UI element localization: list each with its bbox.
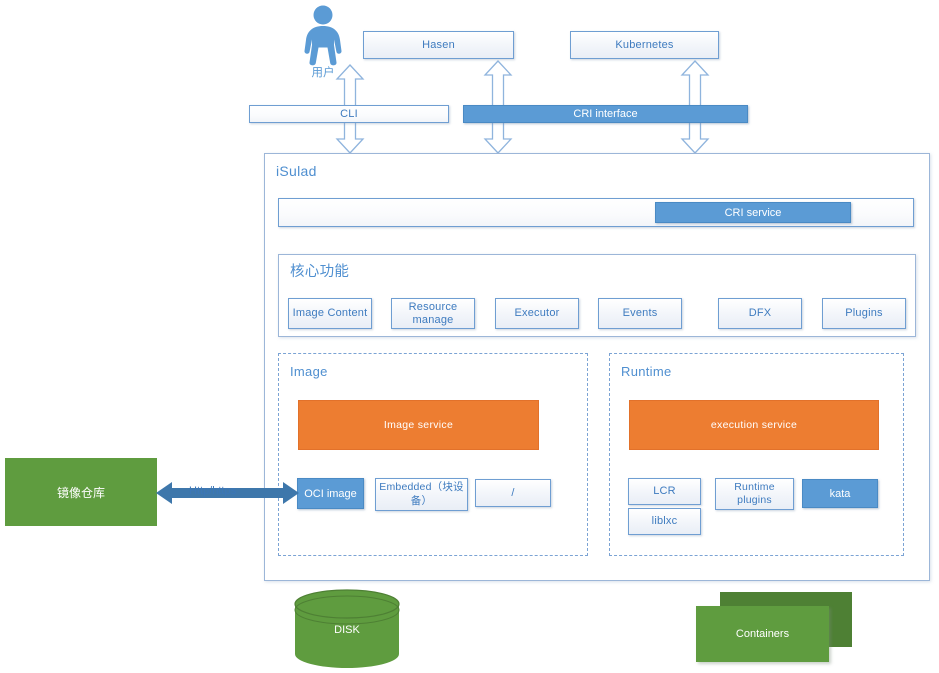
interface-bar-cli[interactable]: CLI: [249, 105, 449, 123]
isulad-title: iSulad: [276, 163, 317, 179]
client-box-hasen-label: Hasen: [422, 39, 455, 52]
storage-containers[interactable]: Containers: [696, 592, 856, 662]
storage-containers-front-card: Containers: [696, 606, 829, 662]
cri-service-box[interactable]: CRI service: [655, 202, 851, 223]
core-functions-panel: [278, 254, 916, 337]
core-module-resource-manage[interactable]: Resource manage: [391, 298, 475, 329]
runtime-backend-liblxc[interactable]: liblxc: [628, 508, 701, 535]
interface-bar-cri[interactable]: CRI interface: [463, 105, 748, 123]
user-person-icon: [296, 4, 350, 66]
cri-service-label: CRI service: [725, 207, 782, 219]
core-module-plugins-label: Plugins: [845, 307, 882, 320]
image-backend-slash-label: /: [511, 487, 514, 500]
image-section-title: Image: [290, 364, 328, 379]
execution-service-label: execution service: [711, 419, 797, 431]
runtime-backend-lcr-label: LCR: [653, 485, 676, 498]
client-box-hasen[interactable]: Hasen: [363, 31, 514, 59]
image-backend-oci-image-label: OCI image: [304, 488, 357, 500]
runtime-backend-liblxc-label: liblxc: [652, 515, 678, 528]
runtime-backend-lcr[interactable]: LCR: [628, 478, 701, 505]
client-box-kubernetes-label: Kubernetes: [615, 39, 673, 52]
core-module-plugins[interactable]: Plugins: [822, 298, 906, 329]
image-section-panel: [278, 353, 588, 556]
runtime-backend-kata[interactable]: kata: [802, 479, 878, 508]
runtime-backend-kata-label: kata: [830, 488, 851, 500]
image-service-label: Image service: [384, 419, 453, 431]
interface-bar-cri-label: CRI interface: [573, 108, 637, 120]
core-module-resource-manage-label: Resource manage: [392, 301, 474, 326]
runtime-backend-runtime-plugins-label: Runtime plugins: [716, 481, 793, 507]
arrow-registry-label: Http/https: [189, 485, 236, 497]
image-service-box[interactable]: Image service: [298, 400, 539, 450]
image-registry-label: 镜像仓库: [57, 484, 105, 501]
image-backend-slash[interactable]: /: [475, 479, 551, 507]
core-module-events-label: Events: [623, 307, 658, 320]
diagram-canvas: 用户 Hasen Kubernetes CLI CRI interface iS…: [0, 0, 939, 673]
core-module-events[interactable]: Events: [598, 298, 682, 329]
storage-disk-label: DISK: [293, 624, 401, 636]
image-backend-embedded-label: Embedded（块设备）: [376, 481, 467, 507]
core-module-executor-label: Executor: [514, 307, 559, 320]
core-functions-title: 核心功能: [290, 260, 349, 281]
runtime-backend-runtime-plugins[interactable]: Runtime plugins: [715, 478, 794, 510]
interface-bar-cli-label: CLI: [340, 108, 358, 121]
core-module-dfx[interactable]: DFX: [718, 298, 802, 329]
core-module-image-content[interactable]: Image Content: [288, 298, 372, 329]
core-module-image-content-label: Image Content: [293, 307, 368, 320]
image-backend-oci-image[interactable]: OCI image: [297, 478, 364, 509]
storage-disk[interactable]: DISK: [293, 590, 401, 668]
core-module-dfx-label: DFX: [749, 307, 772, 320]
core-module-executor[interactable]: Executor: [495, 298, 579, 329]
storage-containers-label: Containers: [736, 628, 789, 640]
runtime-section-title: Runtime: [621, 364, 672, 379]
client-box-kubernetes[interactable]: Kubernetes: [570, 31, 719, 59]
execution-service-box[interactable]: execution service: [629, 400, 879, 450]
image-registry-box[interactable]: 镜像仓库: [5, 458, 157, 526]
image-backend-embedded[interactable]: Embedded（块设备）: [375, 478, 468, 511]
